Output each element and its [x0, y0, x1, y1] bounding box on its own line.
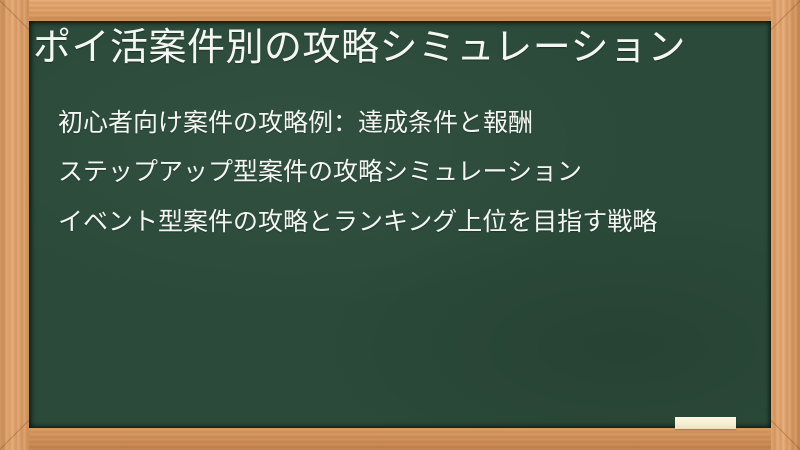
- chalkboard-surface: ポイ活案件別の攻略シミュレーション 初心者向け案件の攻略例：達成条件と報酬 ステ…: [29, 21, 771, 428]
- frame-rail-left: [0, 0, 29, 450]
- chalk-stick: [675, 417, 736, 429]
- list-item: 初心者向け案件の攻略例：達成条件と報酬: [58, 105, 748, 141]
- frame-rail-right: [771, 0, 800, 450]
- page-title: ポイ活案件別の攻略シミュレーション: [33, 26, 763, 71]
- chalkboard-slide: ポイ活案件別の攻略シミュレーション 初心者向け案件の攻略例：達成条件と報酬 ステ…: [0, 0, 800, 450]
- list-item: ステップアップ型案件の攻略シミュレーション: [58, 154, 748, 190]
- list-item: イベント型案件の攻略とランキング上位を目指す戦略: [58, 204, 748, 240]
- frame-rail-bottom: [0, 428, 800, 450]
- topic-list: 初心者向け案件の攻略例：達成条件と報酬 ステップアップ型案件の攻略シミュレーショ…: [58, 105, 748, 253]
- frame-rail-top: [0, 0, 800, 21]
